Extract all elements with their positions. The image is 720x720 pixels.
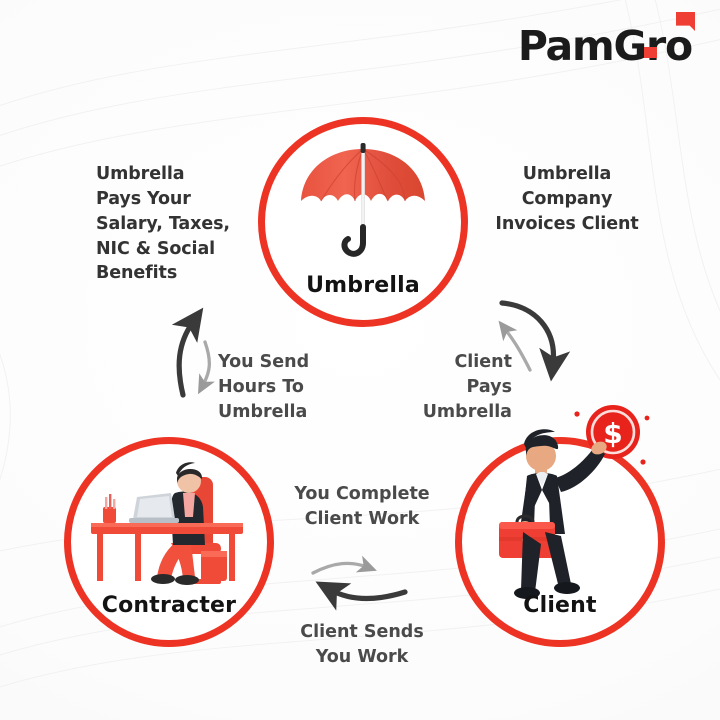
arrow-client-to-contractor bbox=[331, 590, 405, 599]
businessman-coin-icon: $ bbox=[462, 410, 658, 592]
annotation-line: Umbrella bbox=[400, 400, 512, 425]
annotation-line: Salary, Taxes, bbox=[96, 212, 256, 237]
node-contractor[interactable]: Contracter bbox=[64, 437, 274, 647]
annotation-line: Umbrella bbox=[482, 162, 652, 187]
arrow-umbrella-to-contractor bbox=[203, 342, 209, 385]
node-umbrella[interactable]: Umbrella bbox=[258, 117, 468, 327]
arrow-contractor-to-umbrella bbox=[179, 322, 193, 395]
umbrella-icon bbox=[265, 138, 461, 268]
annotation-line: Client bbox=[400, 350, 512, 375]
annotation-line: Umbrella bbox=[96, 162, 256, 187]
dollar-coin-icon: $ bbox=[574, 405, 649, 466]
arrow-contractor-to-client bbox=[313, 563, 367, 573]
annotation-line: You Send bbox=[218, 350, 358, 375]
annotation-line: Invoices Client bbox=[482, 212, 652, 237]
annotation-line: Pays bbox=[400, 375, 512, 400]
annotation-client-sends-you-work: Client Sends You Work bbox=[288, 620, 436, 670]
annotation-line: Company bbox=[482, 187, 652, 212]
brand-logo: PamGro bbox=[518, 26, 692, 78]
node-contractor-label: Contracter bbox=[71, 593, 267, 618]
annotation-you-complete-client-work: You Complete Client Work bbox=[288, 482, 436, 532]
annotation-line: Pays Your bbox=[96, 187, 256, 212]
node-client-label: Client bbox=[462, 593, 658, 618]
annotation-umbrella-pays: Umbrella Pays Your Salary, Taxes, NIC & … bbox=[96, 162, 256, 286]
annotation-line: You Work bbox=[288, 645, 436, 670]
annotation-umbrella-invoices: Umbrella Company Invoices Client bbox=[482, 162, 652, 237]
infographic-canvas: PamGro bbox=[0, 0, 720, 720]
annotation-line: Benefits bbox=[96, 261, 256, 286]
annotation-client-pays-umbrella: Client Pays Umbrella bbox=[400, 350, 512, 425]
annotation-line: Umbrella bbox=[218, 400, 358, 425]
logo-g-accent-icon bbox=[644, 47, 657, 58]
annotation-line: NIC & Social bbox=[96, 237, 256, 262]
annotation-line: You Complete bbox=[288, 482, 436, 507]
annotation-you-send-hours: You Send Hours To Umbrella bbox=[218, 350, 358, 425]
node-client[interactable]: $ bbox=[455, 437, 665, 647]
brand-logo-text: PamGro bbox=[518, 26, 692, 67]
node-umbrella-label: Umbrella bbox=[265, 273, 461, 298]
annotation-line: Client Sends bbox=[288, 620, 436, 645]
contractor-desk-icon bbox=[71, 458, 267, 588]
annotation-line: Client Work bbox=[288, 507, 436, 532]
annotation-line: Hours To bbox=[218, 375, 358, 400]
